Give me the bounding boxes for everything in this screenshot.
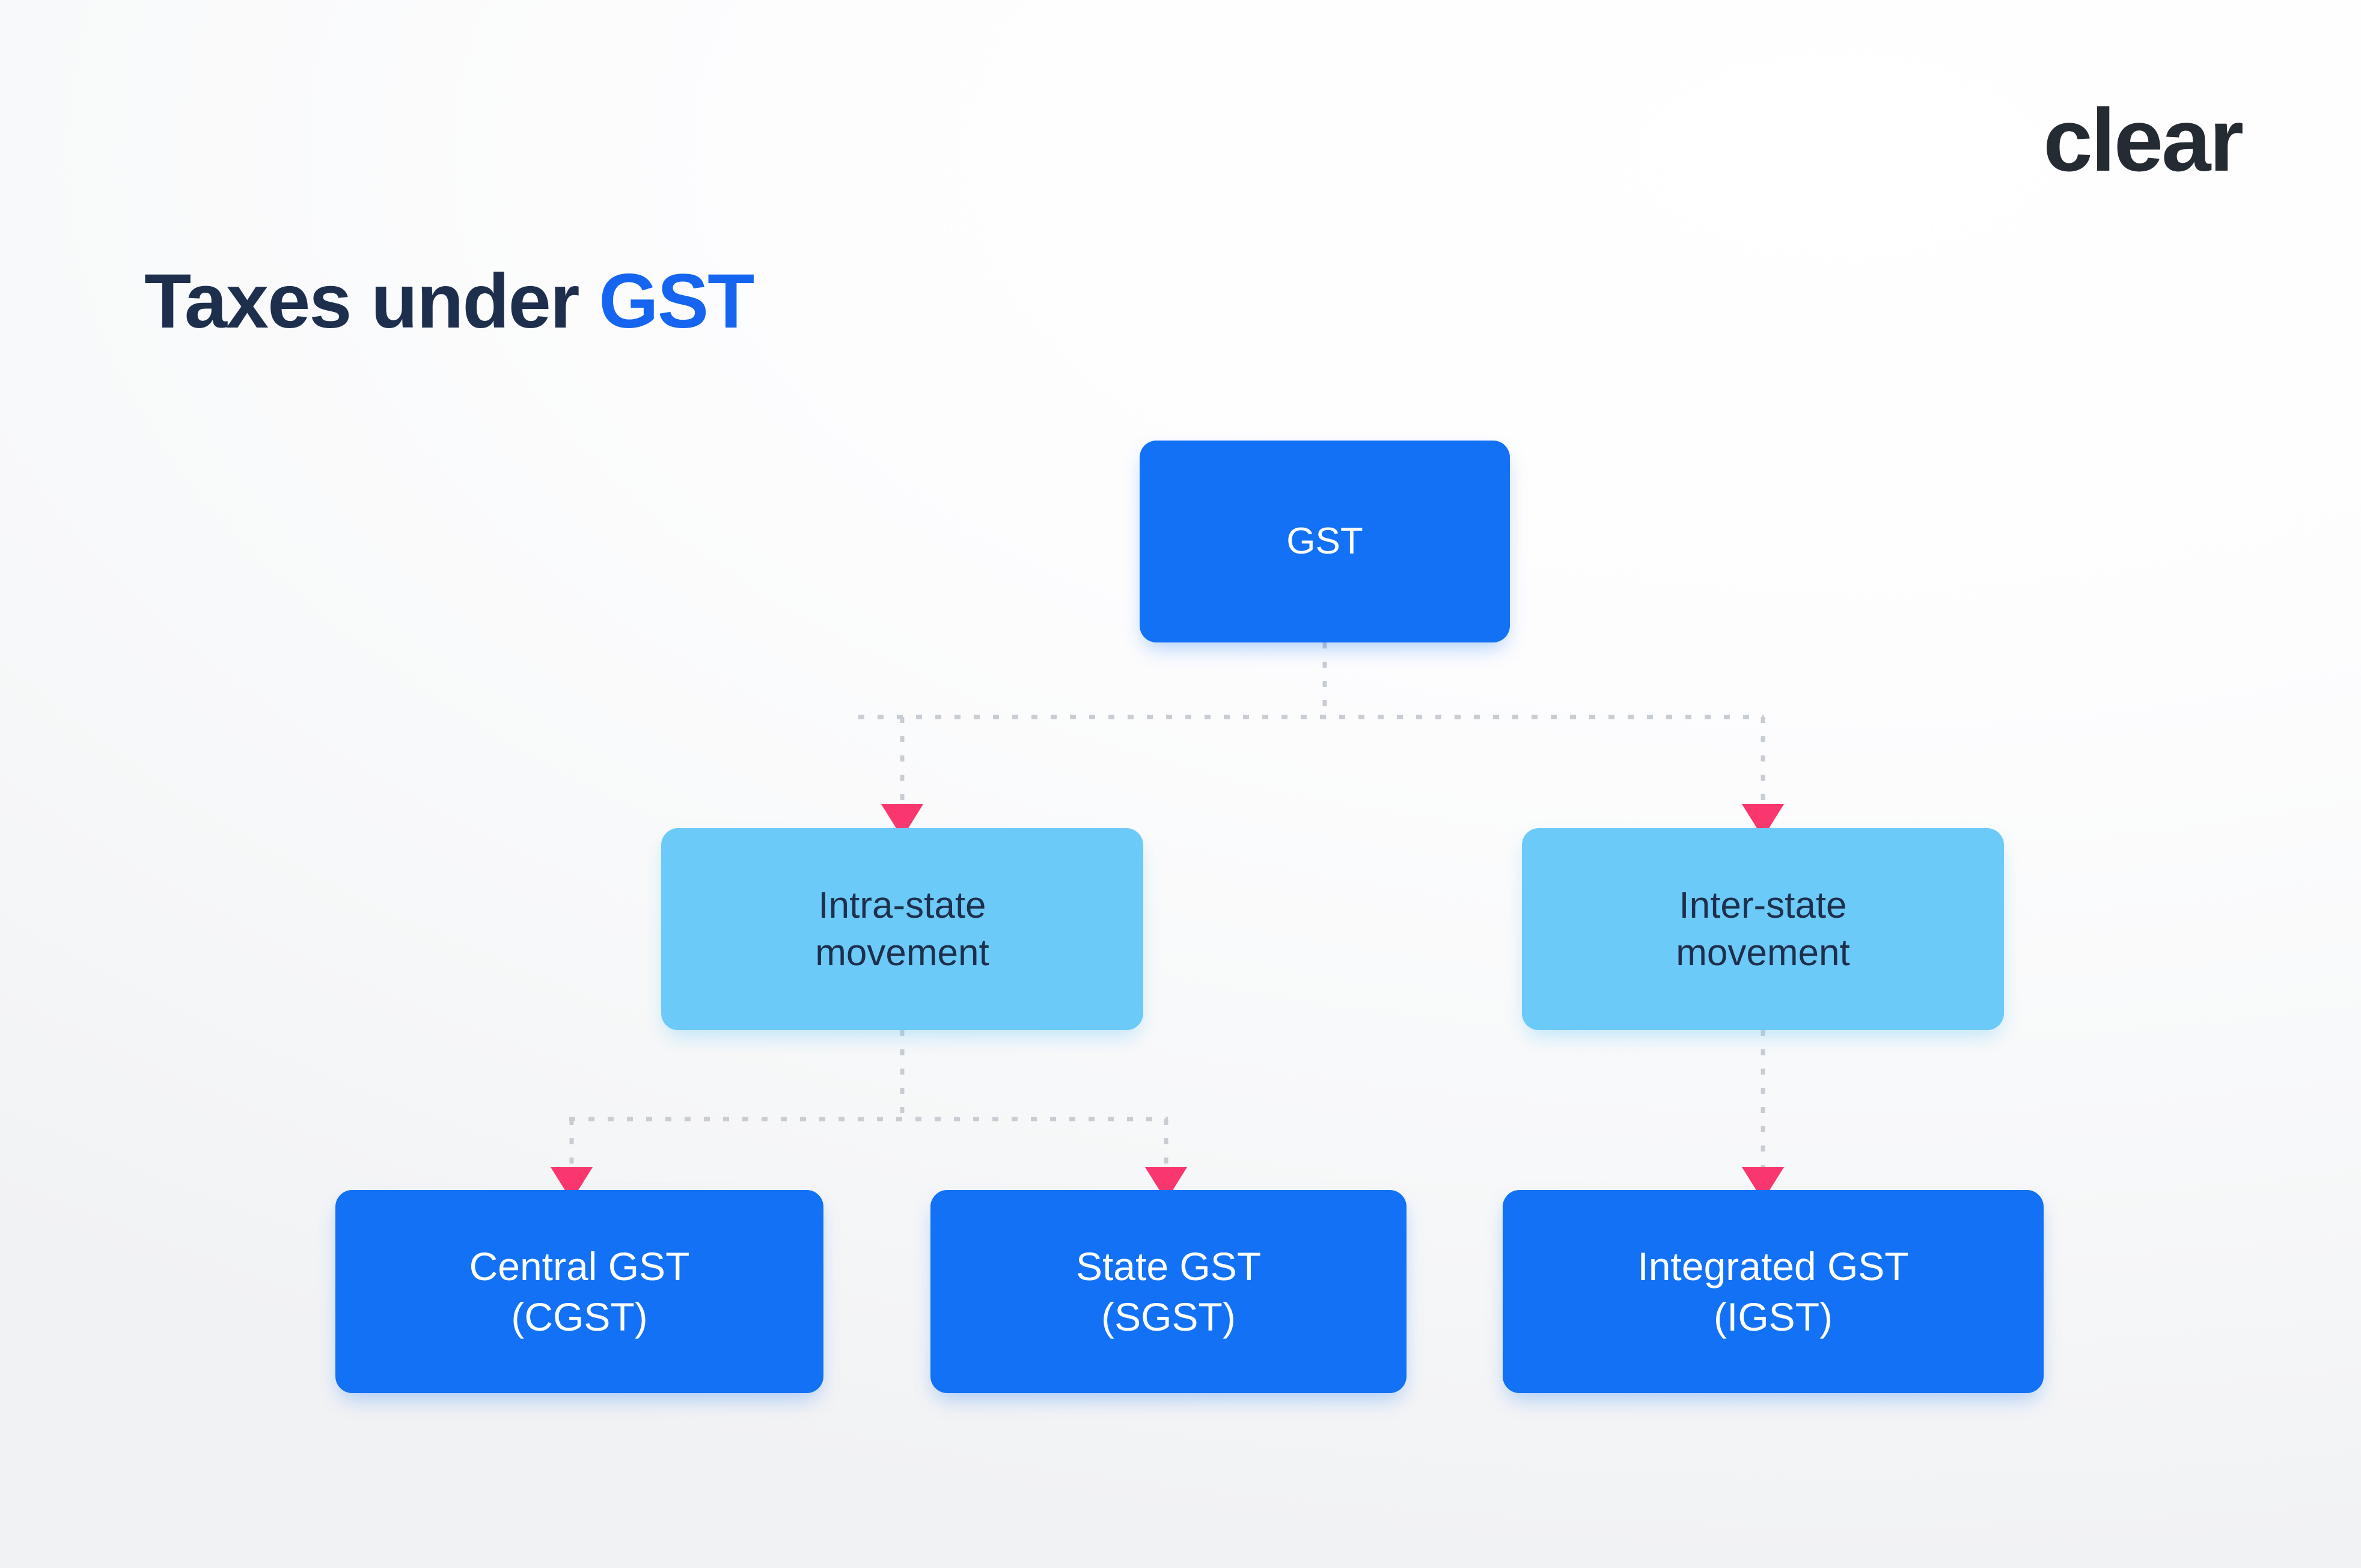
diagram-canvas: clear Taxes under GST GST [0, 0, 2361, 1568]
node-intra-state-movement[interactable]: Intra-state movement [661, 828, 1143, 1030]
node-central-gst-label: Central GST (CGST) [469, 1241, 690, 1343]
node-state-gst-label: State GST (SGST) [1076, 1241, 1261, 1343]
node-inter-state-label: Inter-state movement [1676, 882, 1849, 977]
node-inter-state-movement[interactable]: Inter-state movement [1522, 828, 2004, 1030]
node-intra-state-label: Intra-state movement [815, 882, 989, 977]
node-state-gst[interactable]: State GST (SGST) [930, 1190, 1407, 1393]
node-integrated-gst[interactable]: Integrated GST (IGST) [1503, 1190, 2044, 1393]
clear-logo: clear [2043, 96, 2242, 185]
page-title-accent: GST [599, 258, 753, 344]
page-title-main: Taxes under [144, 258, 599, 344]
node-gst[interactable]: GST [1140, 441, 1510, 642]
node-integrated-gst-label: Integrated GST (IGST) [1637, 1241, 1908, 1343]
page-title: Taxes under GST [144, 258, 753, 344]
node-central-gst[interactable]: Central GST (CGST) [335, 1190, 823, 1393]
node-gst-label: GST [1286, 517, 1363, 565]
